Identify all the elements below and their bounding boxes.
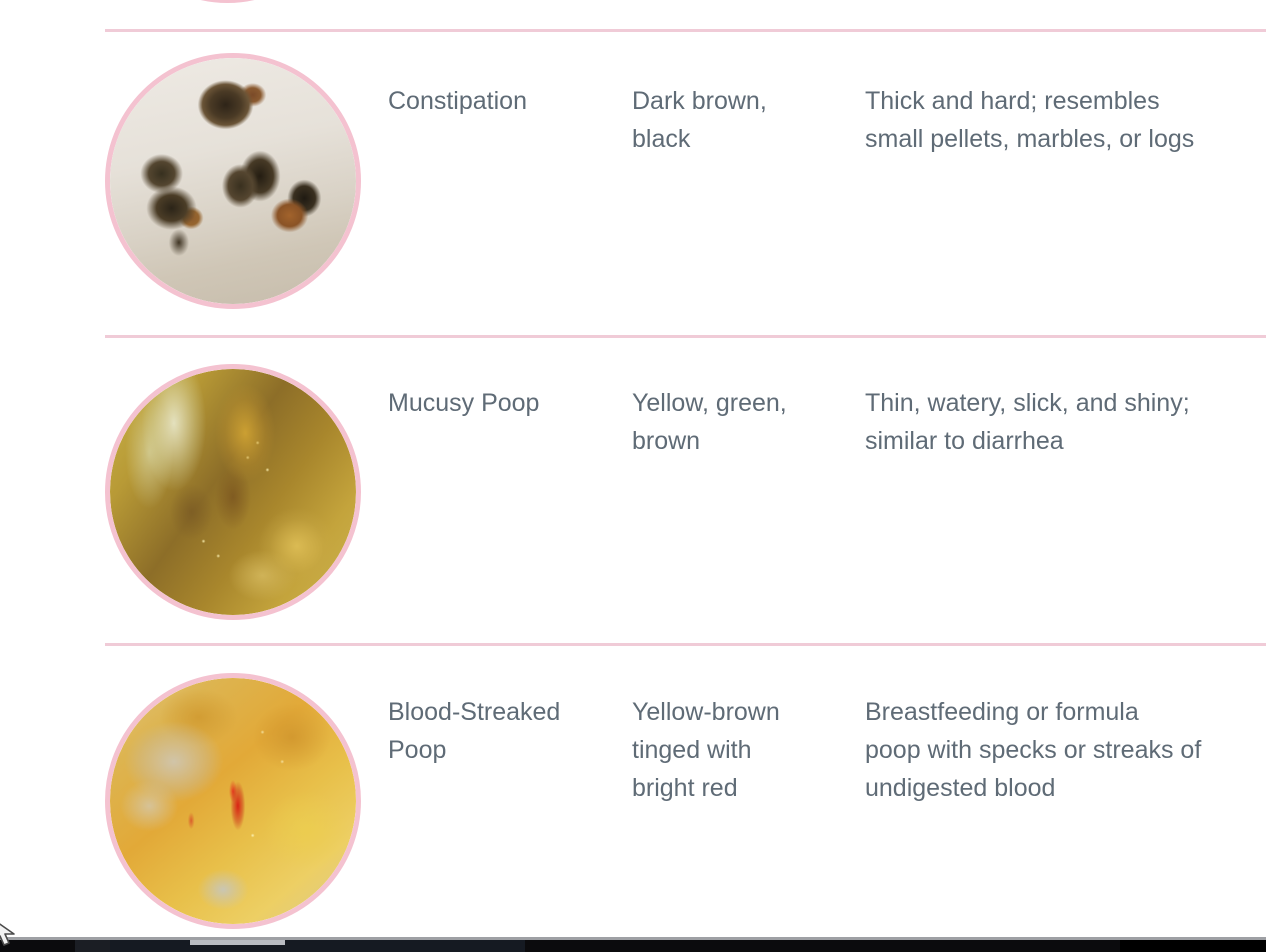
row-color-label: Yellow, green, brown [632,384,852,460]
constipation-stool-photo [105,53,361,309]
constipation-stool-image [110,58,356,304]
row-type-label: Blood-Streaked Poop [388,693,618,769]
row-divider-1 [105,335,1266,338]
taskbar-panel-left[interactable] [75,940,110,952]
row-description-label: Breastfeeding or formula poop with speck… [865,693,1266,807]
row-description-label: Thin, watery, slick, and shiny; similar … [865,384,1266,460]
mucusy-stool-photo [105,364,361,620]
taskbar-panel-tabs[interactable] [110,940,525,952]
previous-row-stool-photo-partial [105,0,350,3]
blood-streaked-stool-photo [105,673,361,929]
row-color-label: Dark brown, black [632,82,852,158]
row-type-label: Constipation [388,82,618,120]
taskbar-panel-right [1120,940,1266,952]
row-divider-2 [105,643,1266,646]
row-description-label: Thick and hard; resembles small pellets,… [865,82,1266,158]
row-type-label: Mucusy Poop [388,384,618,422]
os-taskbar[interactable] [0,940,1266,952]
article-scroll-region[interactable]: Constipation Dark brown, black Thick and… [0,0,1266,940]
row-divider-top [105,29,1266,32]
taskbar-active-tab[interactable] [190,940,285,945]
mucusy-stool-image [110,369,356,615]
blood-streaked-stool-image [110,678,356,924]
row-color-label: Yellow-brown tinged with bright red [632,693,852,807]
